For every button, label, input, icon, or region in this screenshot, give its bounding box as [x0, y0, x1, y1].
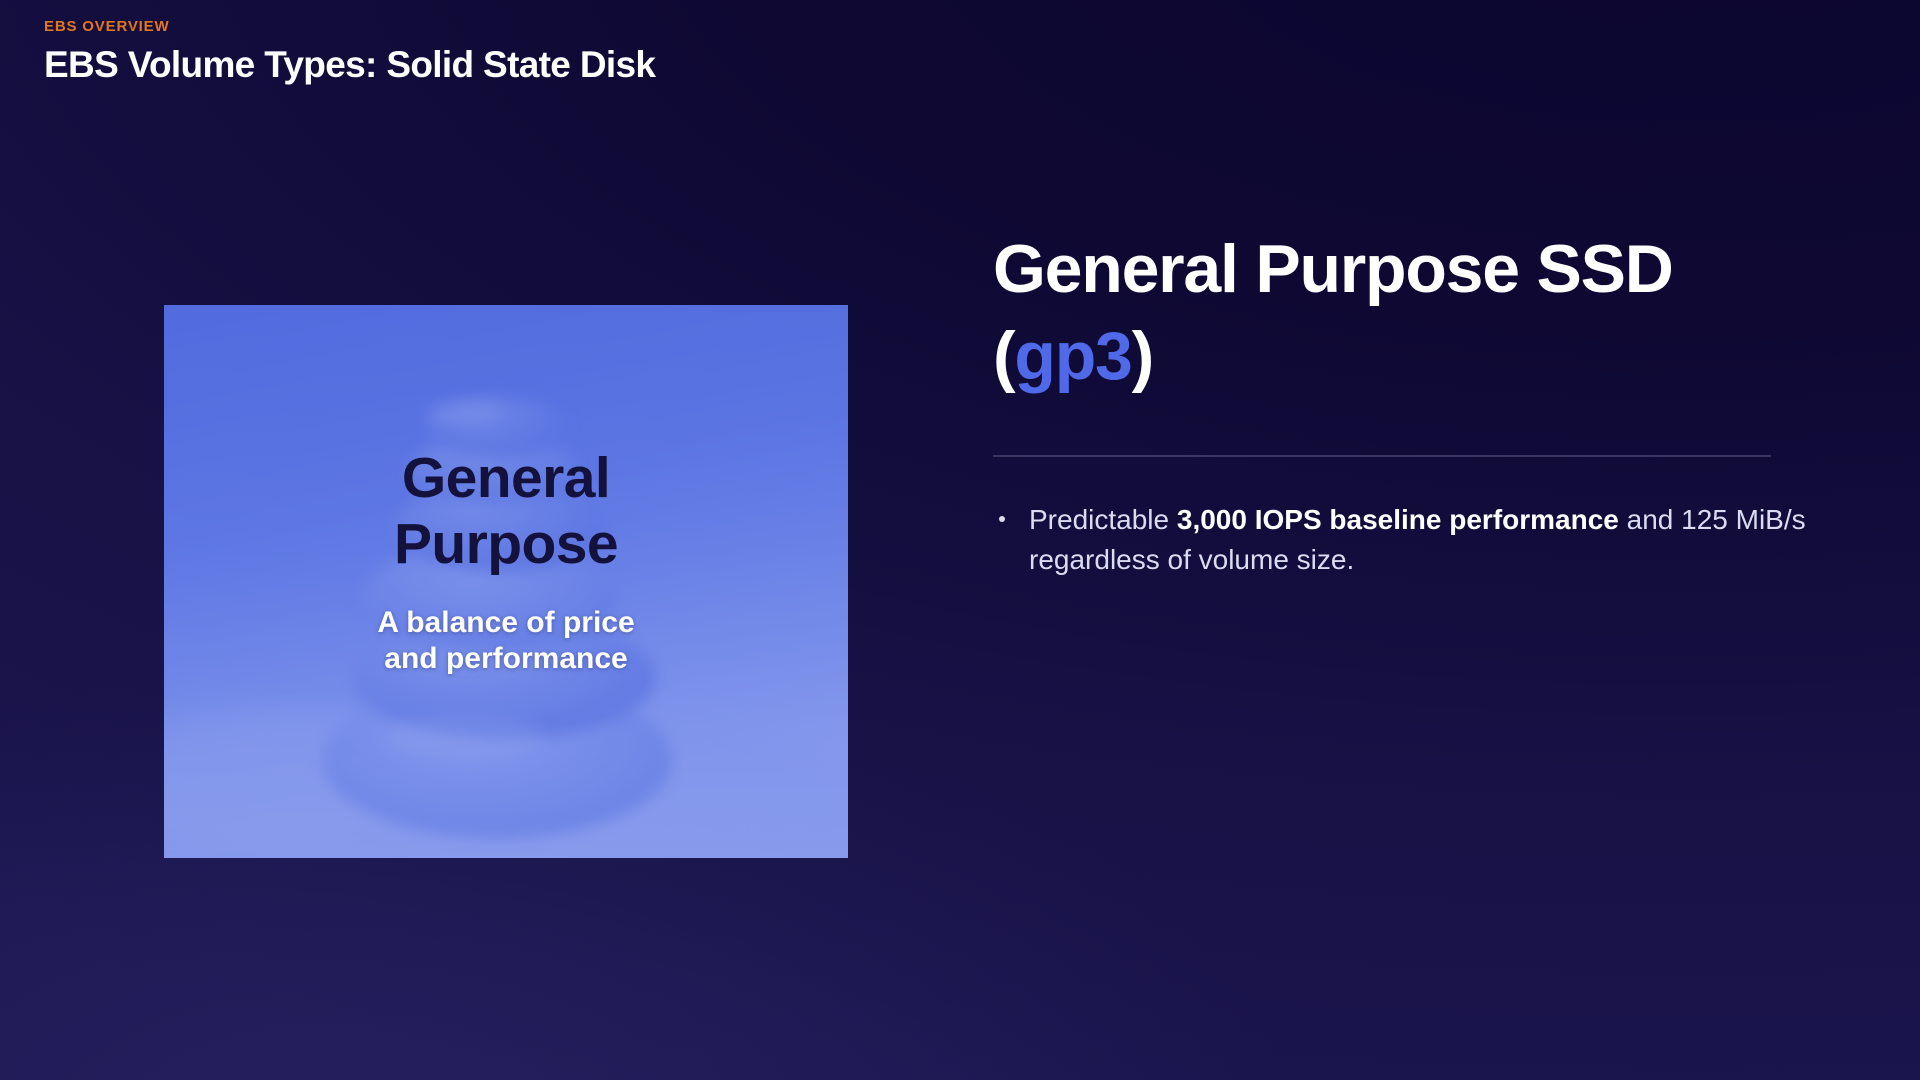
title-divider [993, 455, 1771, 457]
bullet-text-pre: Predictable [1029, 504, 1177, 535]
feature-bullet-list: Predictable 3,000 IOPS baseline performa… [993, 500, 1821, 580]
card-subtitle-line1: A balance of price [377, 605, 634, 640]
bullet-text-bold: 3,000 IOPS baseline performance [1177, 504, 1619, 535]
card-subtitle: A balance of price and performance [377, 605, 634, 676]
slide-header: EBS OVERVIEW EBS Volume Types: Solid Sta… [44, 18, 655, 86]
slide: EBS OVERVIEW EBS Volume Types: Solid Sta… [0, 0, 1920, 1080]
content-column: General Purpose SSD (gp3) Predictable 3,… [993, 226, 1821, 580]
list-item: Predictable 3,000 IOPS baseline performa… [993, 500, 1821, 580]
card-text-overlay: General Purpose A balance of price and p… [164, 305, 848, 858]
volume-type-code: gp3 [1014, 318, 1131, 394]
card-heading: General Purpose [291, 445, 721, 577]
bullet-dot-icon [999, 516, 1005, 522]
card-subtitle-line2: and performance [377, 641, 634, 676]
volume-type-title: General Purpose SSD (gp3) [993, 226, 1821, 400]
volume-type-paren-open: ( [993, 318, 1014, 394]
volume-type-paren-close: ) [1132, 318, 1153, 394]
volume-type-title-main: General Purpose SSD [993, 231, 1673, 307]
page-title: EBS Volume Types: Solid State Disk [44, 45, 655, 86]
eyebrow-label: EBS OVERVIEW [44, 18, 655, 36]
general-purpose-image-card: General Purpose A balance of price and p… [164, 305, 848, 858]
